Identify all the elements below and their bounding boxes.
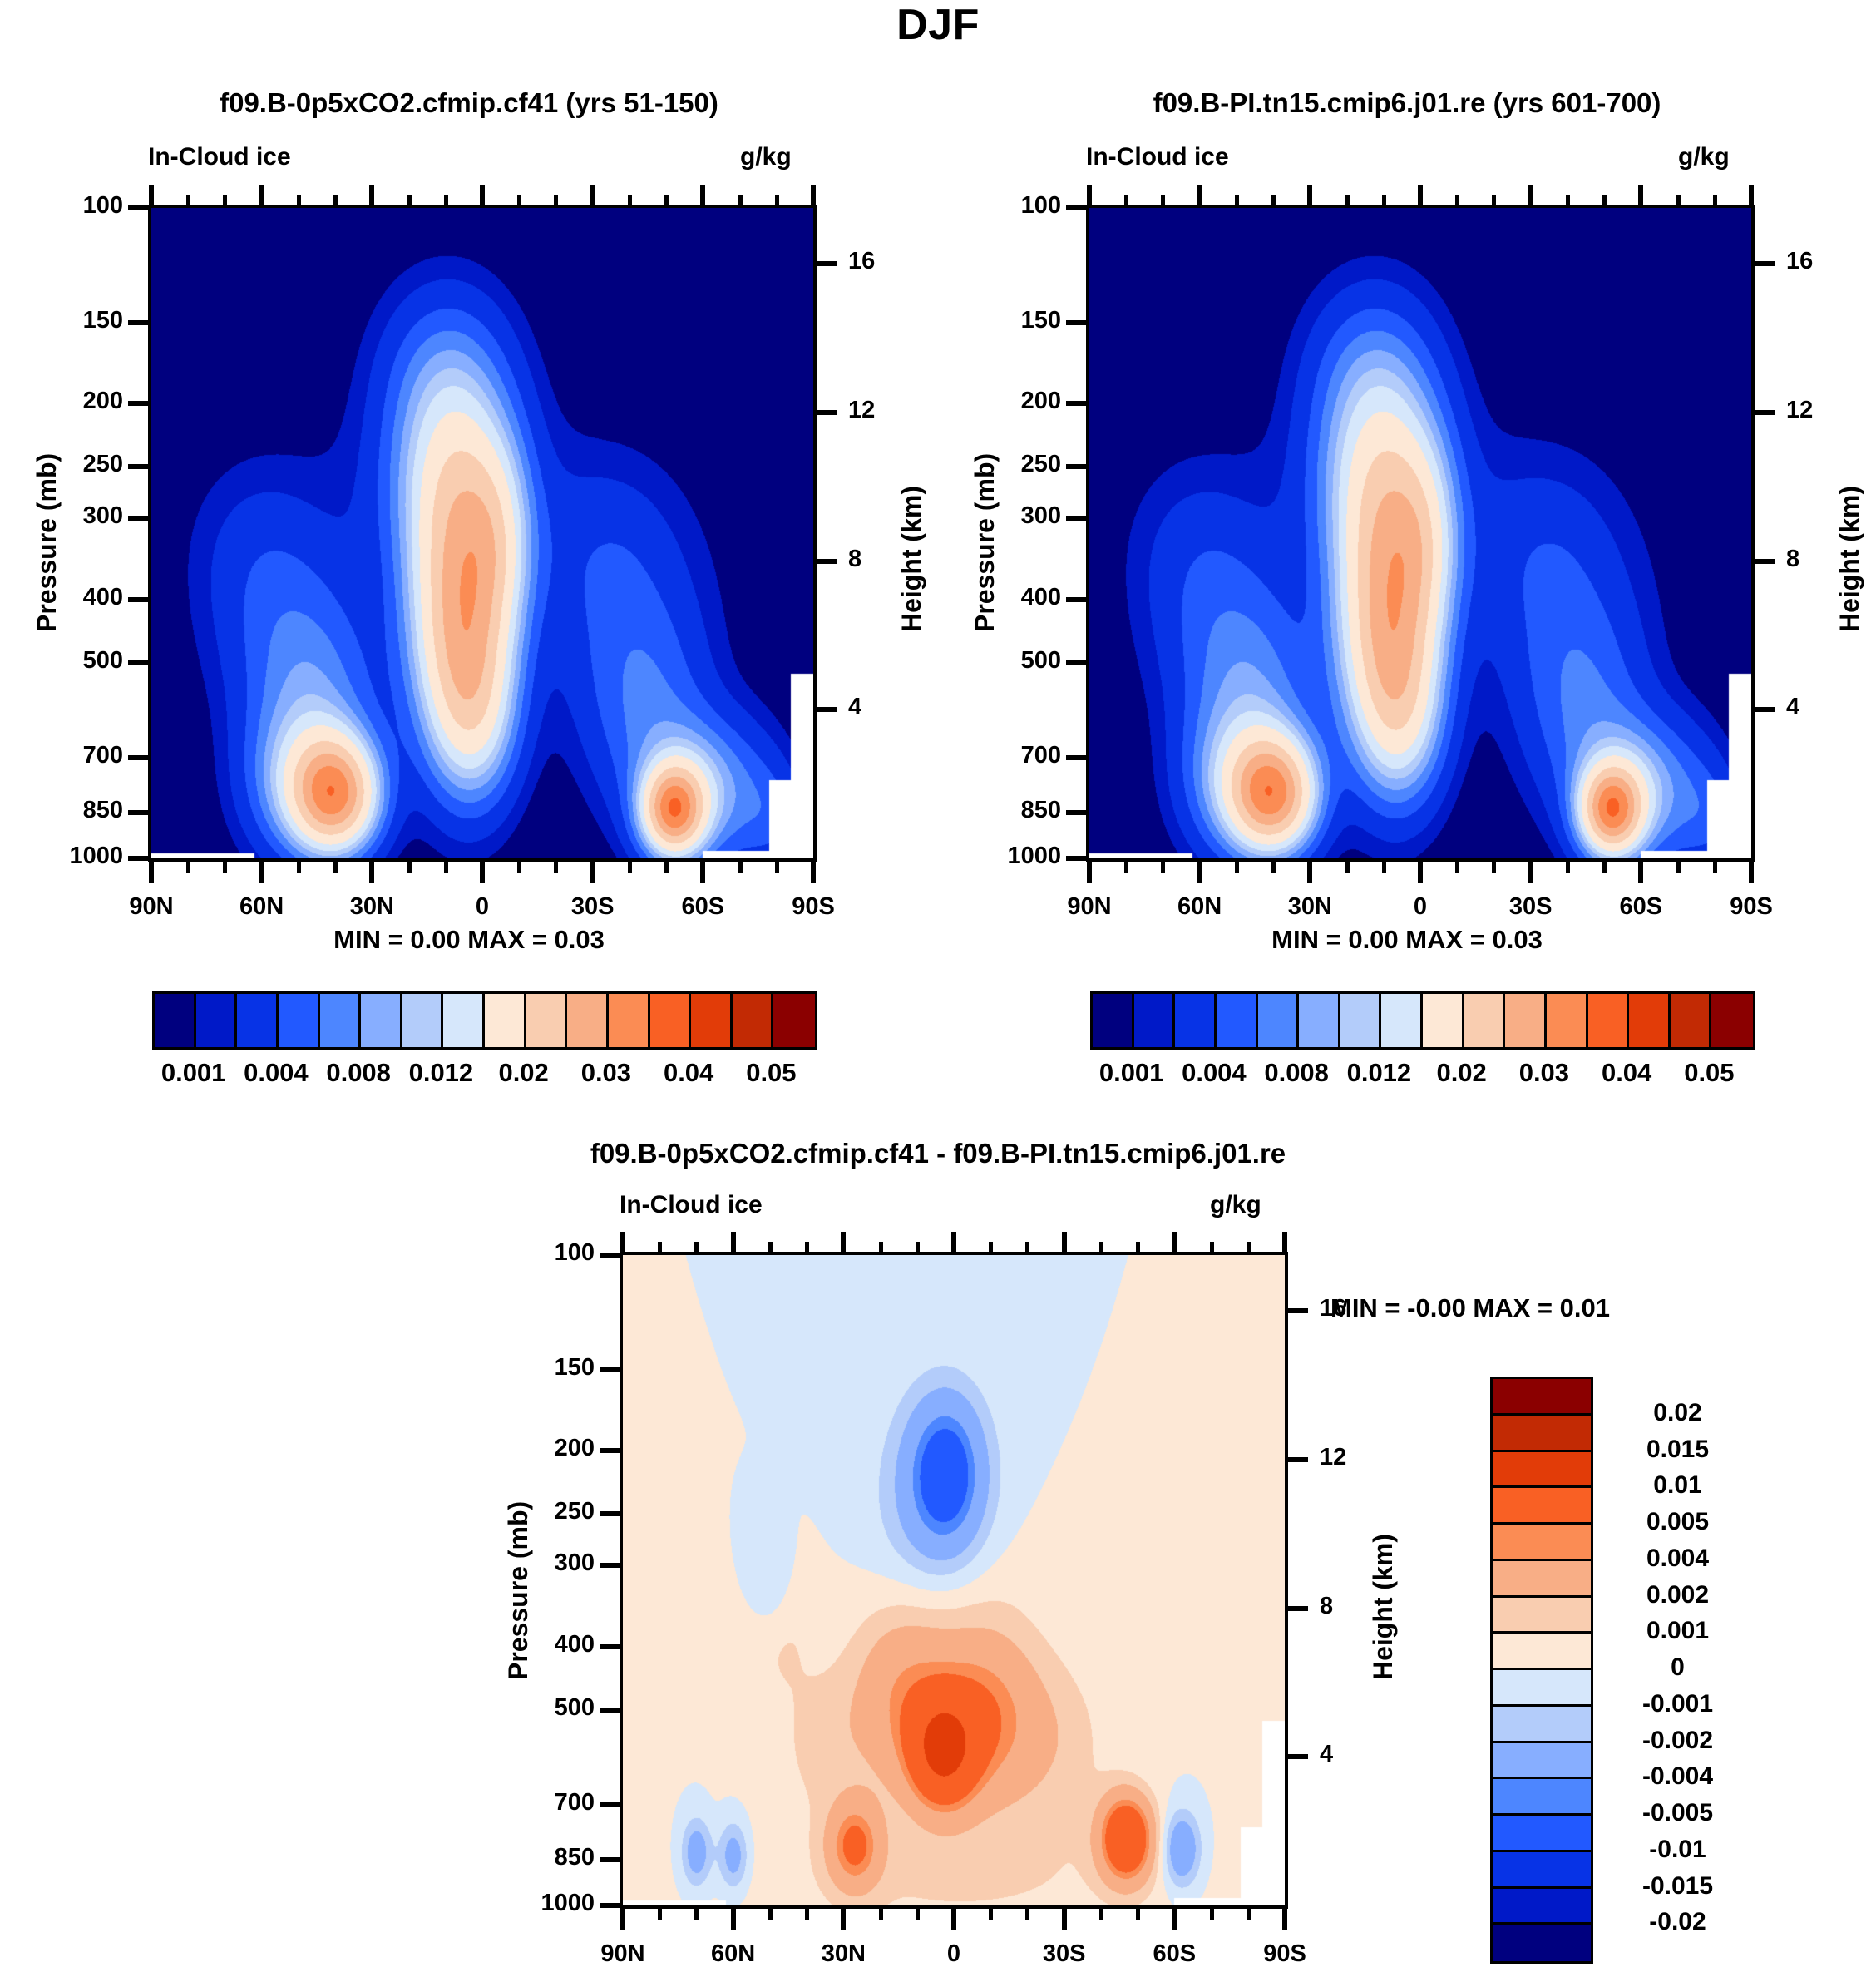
colorbar-cell[interactable] [733, 994, 774, 1047]
height-tickmark [1288, 1754, 1308, 1759]
lat-tick-60N: 60N [1142, 893, 1258, 921]
pressure-tickmark [1066, 660, 1086, 665]
lat-major-tickmark [700, 860, 705, 883]
colorbar-cell[interactable] [1493, 1707, 1591, 1743]
colorbar-cell[interactable] [1493, 1816, 1591, 1852]
pressure-tick-500: 500 [495, 1694, 595, 1722]
colorbar-tick-label: -0.001 [1601, 1690, 1755, 1718]
pressure-tick-400: 400 [23, 584, 123, 611]
height-tick-8: 8 [1320, 1593, 1333, 1620]
pressure-tick-300: 300 [495, 1550, 595, 1577]
pressure-tickmark [1066, 516, 1086, 521]
lat-minor-tickmark-top [1025, 1242, 1029, 1255]
height-tickmark [1288, 1457, 1308, 1462]
colorbar-cell[interactable] [1493, 1889, 1591, 1925]
lat-minor-tickmark-top [738, 195, 743, 208]
height-tickmark [1755, 410, 1775, 415]
lat-minor-tickmark [297, 860, 301, 873]
lat-minor-tickmark [1345, 860, 1350, 873]
height-axis-title-top-right: Height (km) [1834, 486, 1865, 632]
panel-variable-label-top-right: In-Cloud ice [1086, 143, 1229, 171]
lat-minor-tickmark-top [1099, 1242, 1103, 1255]
lat-minor-tickmark-top [1271, 195, 1276, 208]
lat-minor-tickmark [1136, 1907, 1140, 1920]
lat-tick-90N: 90N [93, 893, 210, 921]
colorbar-tick-label: 0.005 [1601, 1508, 1755, 1536]
panel-title-top-left: f09.B-0p5xCO2.cfmip.cf41 (yrs 51-150) [0, 87, 938, 119]
lat-minor-tickmark [554, 860, 558, 873]
lat-major-tickmark-top [700, 185, 705, 208]
pressure-tickmark [1066, 205, 1086, 210]
height-tick-4: 4 [1786, 694, 1799, 721]
pressure-tick-700: 700 [961, 742, 1061, 769]
colorbar-cell[interactable] [1493, 1743, 1591, 1780]
height-tick-4: 4 [1320, 1741, 1333, 1768]
lat-major-tickmark [1418, 860, 1423, 883]
lat-major-tickmark-top [590, 185, 595, 208]
lat-minor-tickmark-top [664, 195, 669, 208]
colorbar-cell[interactable] [1340, 994, 1382, 1047]
lat-major-tickmark-top [1062, 1232, 1067, 1255]
colorbar-cell[interactable] [1493, 1525, 1591, 1561]
height-tickmark [817, 559, 837, 564]
pressure-tick-200: 200 [961, 388, 1061, 415]
colorbar-tick-label: 0.002 [1601, 1581, 1755, 1609]
pressure-tickmark [600, 1644, 620, 1649]
colorbar-cell[interactable] [1493, 1925, 1591, 1961]
height-tickmark [817, 410, 837, 415]
lat-minor-tickmark [738, 860, 743, 873]
colorbar-labels-top-left: 0.0010.0040.0080.0120.020.030.040.05 [152, 1058, 812, 1091]
lat-minor-tickmark-top [1161, 195, 1165, 208]
pressure-tickmark [1066, 810, 1086, 815]
lat-major-tickmark [1528, 860, 1533, 883]
colorbar-cell[interactable] [443, 994, 485, 1047]
colorbar-tick-label: -0.002 [1601, 1727, 1755, 1755]
colorbar-cell[interactable] [1175, 994, 1217, 1047]
lat-major-tickmark [731, 1907, 736, 1930]
panel-title-top-right: f09.B-PI.tn15.cmip6.j01.re (yrs 601-700) [938, 87, 1876, 119]
pressure-tick-850: 850 [23, 797, 123, 824]
colorbar-cell[interactable] [1217, 994, 1258, 1047]
colorbar-cell[interactable] [1299, 994, 1340, 1047]
lat-minor-tickmark [1271, 860, 1276, 873]
contour-plot-bottom-diff [620, 1252, 1288, 1909]
lat-minor-tickmark [775, 860, 779, 873]
pressure-tickmark [600, 1563, 620, 1568]
lat-tick-0: 0 [1362, 893, 1479, 921]
colorbar-tick-label: 0.004 [244, 1058, 309, 1088]
lat-major-tickmark-top [1418, 185, 1423, 208]
colorbar-top-right[interactable] [1090, 991, 1755, 1050]
lat-major-tickmark [1172, 1907, 1177, 1930]
lat-minor-tickmark-top [1713, 195, 1717, 208]
lat-major-tickmark [590, 860, 595, 883]
colorbar-cell[interactable] [1093, 994, 1134, 1047]
contour-plot-top-right [1086, 205, 1755, 862]
lat-major-tickmark [480, 860, 485, 883]
pressure-tickmark [128, 660, 148, 665]
lat-minor-tickmark [407, 860, 412, 873]
colorbar-top-left[interactable] [152, 991, 817, 1050]
lat-tick-60S: 60S [644, 893, 761, 921]
colorbar-cell[interactable] [1493, 1670, 1591, 1707]
pressure-tick-100: 100 [23, 192, 123, 220]
colorbar-cell[interactable] [691, 994, 733, 1047]
lat-minor-tickmark [1099, 1907, 1103, 1920]
colorbar-cell[interactable] [196, 994, 238, 1047]
height-tick-8: 8 [848, 546, 861, 573]
lat-minor-tickmark [1025, 1907, 1029, 1920]
lat-major-tickmark-top [1087, 185, 1092, 208]
lat-minor-tickmark [1124, 860, 1128, 873]
colorbar-tick-label: 0.008 [326, 1058, 391, 1088]
height-tick-12: 12 [1786, 397, 1813, 424]
lat-tick-90N: 90N [565, 1940, 681, 1968]
lat-minor-tickmark-top [1382, 195, 1386, 208]
colorbar-cell[interactable] [1493, 1779, 1591, 1816]
lat-minor-tickmark-top [297, 195, 301, 208]
lat-minor-tickmark-top [444, 195, 448, 208]
panel-title-bottom-diff: f09.B-0p5xCO2.cfmip.cf41 - f09.B-PI.tn15… [0, 1138, 1876, 1169]
lat-minor-tickmark-top [916, 1242, 920, 1255]
height-tickmark [1755, 559, 1775, 564]
lat-major-tickmark-top [1282, 1232, 1287, 1255]
lat-minor-tickmark-top [1602, 195, 1607, 208]
height-tickmark [1755, 261, 1775, 266]
lat-minor-tickmark [628, 860, 632, 873]
lat-major-tickmark [1062, 1907, 1067, 1930]
lat-minor-tickmark-top [658, 1242, 662, 1255]
colorbar-tick-label: 0.05 [746, 1058, 796, 1088]
lat-major-tickmark [1197, 860, 1202, 883]
pressure-tick-250: 250 [23, 451, 123, 478]
colorbar-tick-label: -0.015 [1601, 1872, 1755, 1900]
lat-minor-tickmark-top [1492, 195, 1496, 208]
pressure-tickmark [600, 1511, 620, 1516]
colorbar-cell[interactable] [526, 994, 568, 1047]
colorbar-cell[interactable] [1381, 994, 1423, 1047]
colorbar-tick-label: -0.02 [1601, 1908, 1755, 1936]
colorbar-tick-label: 0.001 [1099, 1058, 1164, 1088]
colorbar-cell[interactable] [1493, 1598, 1591, 1634]
lat-minor-tickmark-top [1345, 195, 1350, 208]
lat-minor-tickmark [658, 1907, 662, 1920]
lat-minor-tickmark [444, 860, 448, 873]
colorbar-tick-label: 0.03 [581, 1058, 631, 1088]
lat-minor-tickmark-top [805, 1242, 809, 1255]
lat-major-tickmark-top [369, 185, 374, 208]
pressure-tickmark [128, 856, 148, 861]
pressure-tickmark [600, 1857, 620, 1862]
colorbar-tick-label: 0.008 [1264, 1058, 1329, 1088]
colorbar-tick-label: 0 [1601, 1653, 1755, 1682]
lat-minor-tickmark-top [554, 195, 558, 208]
lat-tick-30S: 30S [1006, 1940, 1123, 1968]
colorbar-cell[interactable] [1629, 994, 1671, 1047]
colorbar-cell[interactable] [1258, 994, 1300, 1047]
lat-major-tickmark [1638, 860, 1643, 883]
pressure-tickmark [1066, 856, 1086, 861]
lat-minor-tickmark-top [879, 1242, 883, 1255]
colorbar-tick-label: 0.001 [1601, 1617, 1755, 1645]
pressure-tickmark [128, 516, 148, 521]
colorbar-cell[interactable] [279, 994, 320, 1047]
lat-tick-30N: 30N [785, 1940, 901, 1968]
lat-minor-tickmark-top [628, 195, 632, 208]
lat-tick-30S: 30S [535, 893, 651, 921]
lat-major-tickmark-top [1638, 185, 1643, 208]
lat-minor-tickmark-top [223, 195, 227, 208]
pressure-tick-200: 200 [495, 1435, 595, 1462]
colorbar-cell[interactable] [402, 994, 444, 1047]
lat-major-tickmark [620, 1907, 625, 1930]
colorbar-cell[interactable] [773, 994, 815, 1047]
lat-major-tickmark [1087, 860, 1092, 883]
colorbar-cell[interactable] [1505, 994, 1547, 1047]
lat-minor-tickmark-top [333, 195, 338, 208]
pressure-tick-400: 400 [961, 584, 1061, 611]
lat-major-tickmark-top [1528, 185, 1533, 208]
panel-units-label-bottom-diff: g/kg [1210, 1191, 1261, 1219]
lat-minor-tickmark [186, 860, 190, 873]
colorbar-tick-label: -0.004 [1601, 1762, 1755, 1791]
lat-minor-tickmark [1455, 860, 1459, 873]
colorbar-cell[interactable] [1464, 994, 1506, 1047]
pressure-tick-100: 100 [495, 1239, 595, 1267]
lat-major-tickmark [841, 1907, 846, 1930]
pressure-tick-850: 850 [495, 1844, 595, 1871]
colorbar-cell[interactable] [155, 994, 196, 1047]
lat-minor-tickmark [768, 1907, 773, 1920]
lat-major-tickmark [369, 860, 374, 883]
lat-major-tickmark-top [951, 1232, 956, 1255]
lat-major-tickmark-top [259, 185, 264, 208]
pressure-tick-150: 150 [23, 307, 123, 334]
pressure-tick-200: 200 [23, 388, 123, 415]
pressure-tickmark [600, 1367, 620, 1372]
lat-minor-tickmark [694, 1907, 699, 1920]
lat-minor-tickmark [1566, 860, 1570, 873]
colorbar-tick-label: 0.05 [1684, 1058, 1734, 1088]
lat-minor-tickmark [1602, 860, 1607, 873]
lat-minor-tickmark-top [775, 195, 779, 208]
lat-minor-tickmark [916, 1907, 920, 1920]
figure-main-title: DJF [0, 0, 1876, 50]
pressure-tick-150: 150 [495, 1354, 595, 1381]
lat-major-tickmark [1749, 860, 1754, 883]
lat-minor-tickmark [989, 1907, 993, 1920]
lat-minor-tickmark-top [1136, 1242, 1140, 1255]
colorbar-cell[interactable] [609, 994, 650, 1047]
lat-tick-30N: 30N [313, 893, 430, 921]
colorbar-cell[interactable] [237, 994, 279, 1047]
lat-major-tickmark [951, 1907, 956, 1930]
lat-minor-tickmark [223, 860, 227, 873]
height-tickmark [817, 261, 837, 266]
lat-major-tickmark [259, 860, 264, 883]
pressure-tickmark [128, 464, 148, 469]
lat-minor-tickmark-top [1210, 1242, 1214, 1255]
panel-units-label-top-right: g/kg [1678, 143, 1730, 171]
pressure-tickmark [600, 1448, 620, 1453]
pressure-tickmark [1066, 597, 1086, 602]
pressure-tickmark [128, 205, 148, 210]
lat-minor-tickmark-top [407, 195, 412, 208]
colorbar-cell[interactable] [1547, 994, 1588, 1047]
lat-minor-tickmark [805, 1907, 809, 1920]
height-axis-title-bottom-diff: Height (km) [1368, 1534, 1399, 1680]
height-tick-12: 12 [1320, 1444, 1346, 1471]
height-tickmark [817, 707, 837, 712]
colorbar-cell[interactable] [650, 994, 692, 1047]
height-tickmark [1755, 707, 1775, 712]
height-tickmark [1288, 1606, 1308, 1611]
colorbar-tick-label: 0.012 [409, 1058, 474, 1088]
pressure-tick-100: 100 [961, 192, 1061, 220]
lat-minor-tickmark-top [989, 1242, 993, 1255]
lat-minor-tickmark [517, 860, 521, 873]
lat-major-tickmark-top [1749, 185, 1754, 208]
pressure-tickmark [128, 755, 148, 760]
minmax-label-bottom-diff: MIN = -0.00 MAX = 0.01 [1330, 1293, 1610, 1323]
height-tick-16: 16 [848, 248, 875, 275]
lat-minor-tickmark-top [517, 195, 521, 208]
colorbar-labels-top-right: 0.0010.0040.0080.0120.020.030.040.05 [1090, 1058, 1750, 1091]
colorbar-tick-label: 0.02 [498, 1058, 548, 1088]
colorbar-cell[interactable] [1493, 1452, 1591, 1489]
colorbar-cell[interactable] [1671, 994, 1712, 1047]
lat-major-tickmark [1307, 860, 1312, 883]
lat-major-tickmark-top [149, 185, 154, 208]
colorbar-tick-label: 0.02 [1436, 1058, 1486, 1088]
lat-minor-tickmark [1382, 860, 1386, 873]
colorbar-cell[interactable] [1493, 1379, 1591, 1416]
lat-minor-tickmark [1161, 860, 1165, 873]
pressure-tickmark [600, 1708, 620, 1713]
pressure-tick-500: 500 [961, 647, 1061, 675]
colorbar-tick-label: 0.04 [664, 1058, 713, 1088]
minmax-label-top-right: MIN = 0.00 MAX = 0.03 [938, 925, 1876, 955]
colorbar-cell[interactable] [1423, 994, 1464, 1047]
lat-major-tickmark-top [480, 185, 485, 208]
lat-major-tickmark [811, 860, 816, 883]
colorbar-tick-label: -0.01 [1601, 1836, 1755, 1864]
colorbar-tick-label: 0.004 [1601, 1545, 1755, 1573]
colorbar-cell[interactable] [1134, 994, 1176, 1047]
pressure-tick-250: 250 [961, 451, 1061, 478]
lat-minor-tickmark [664, 860, 669, 873]
lat-minor-tickmark [1492, 860, 1496, 873]
pressure-tick-1000: 1000 [495, 1890, 595, 1917]
lat-tick-0: 0 [424, 893, 541, 921]
pressure-tick-250: 250 [495, 1498, 595, 1525]
colorbar-cell[interactable] [1711, 994, 1753, 1047]
colorbar-tick-label: 0.02 [1601, 1399, 1755, 1427]
pressure-tick-300: 300 [23, 502, 123, 530]
pressure-tick-850: 850 [961, 797, 1061, 824]
colorbar-labels-bottom-diff: 0.020.0150.010.0050.0040.0020.0010-0.001… [1601, 1377, 1767, 1959]
height-tick-8: 8 [1786, 546, 1799, 573]
lat-minor-tickmark-top [1455, 195, 1459, 208]
lat-minor-tickmark-top [1235, 195, 1239, 208]
pressure-tickmark [1066, 401, 1086, 406]
colorbar-cell[interactable] [1493, 1561, 1591, 1598]
panel-variable-label-bottom-diff: In-Cloud ice [620, 1191, 763, 1219]
lat-minor-tickmark-top [1124, 195, 1128, 208]
colorbar-tick-label: 0.015 [1601, 1436, 1755, 1464]
lat-tick-60S: 60S [1116, 1940, 1232, 1968]
height-axis-title-top-left: Height (km) [896, 486, 927, 632]
pressure-tickmark [600, 1802, 620, 1807]
pressure-tickmark [1066, 755, 1086, 760]
lat-minor-tickmark-top [1566, 195, 1570, 208]
colorbar-tick-label: 0.01 [1601, 1471, 1755, 1500]
height-tick-16: 16 [1786, 248, 1813, 275]
colorbar-cell[interactable] [485, 994, 526, 1047]
height-tickmark [1288, 1308, 1308, 1313]
lat-tick-60N: 60N [675, 1940, 792, 1968]
lat-major-tickmark [149, 860, 154, 883]
colorbar-bottom-diff[interactable] [1490, 1377, 1593, 1964]
lat-major-tickmark [1282, 1907, 1287, 1930]
lat-minor-tickmark-top [1247, 1242, 1251, 1255]
colorbar-cell[interactable] [1588, 994, 1630, 1047]
colorbar-cell[interactable] [1493, 1416, 1591, 1452]
pressure-tickmark [1066, 320, 1086, 325]
lat-minor-tickmark [1247, 1907, 1251, 1920]
lat-minor-tickmark [333, 860, 338, 873]
pressure-tick-300: 300 [961, 502, 1061, 530]
contour-plot-top-left [148, 205, 817, 862]
panel-units-label-top-left: g/kg [740, 143, 792, 171]
colorbar-cell[interactable] [1493, 1488, 1591, 1525]
pressure-tickmark [600, 1253, 620, 1258]
colorbar-tick-label: -0.005 [1601, 1799, 1755, 1827]
pressure-tick-150: 150 [961, 307, 1061, 334]
lat-major-tickmark-top [731, 1232, 736, 1255]
lat-tick-90S: 90S [1227, 1940, 1343, 1968]
colorbar-cell[interactable] [320, 994, 362, 1047]
pressure-tickmark [128, 597, 148, 602]
lat-tick-90N: 90N [1031, 893, 1148, 921]
colorbar-cell[interactable] [567, 994, 609, 1047]
lat-tick-30S: 30S [1473, 893, 1589, 921]
pressure-tick-700: 700 [23, 742, 123, 769]
lat-minor-tickmark [1713, 860, 1717, 873]
height-tick-4: 4 [848, 694, 861, 721]
lat-tick-30N: 30N [1251, 893, 1368, 921]
colorbar-cell[interactable] [1493, 1634, 1591, 1670]
lat-minor-tickmark [879, 1907, 883, 1920]
lat-major-tickmark-top [811, 185, 816, 208]
lat-major-tickmark-top [1307, 185, 1312, 208]
lat-minor-tickmark-top [186, 195, 190, 208]
colorbar-cell[interactable] [1493, 1852, 1591, 1889]
lat-minor-tickmark [1676, 860, 1681, 873]
pressure-tickmark [128, 401, 148, 406]
colorbar-tick-label: 0.001 [161, 1058, 226, 1088]
lat-major-tickmark-top [1172, 1232, 1177, 1255]
minmax-label-top-left: MIN = 0.00 MAX = 0.03 [0, 925, 938, 955]
pressure-tickmark [128, 810, 148, 815]
pressure-tick-700: 700 [495, 1789, 595, 1816]
lat-major-tickmark-top [1197, 185, 1202, 208]
lat-tick-60N: 60N [204, 893, 320, 921]
pressure-tickmark [600, 1903, 620, 1908]
colorbar-tick-label: 0.03 [1519, 1058, 1569, 1088]
colorbar-cell[interactable] [361, 994, 402, 1047]
